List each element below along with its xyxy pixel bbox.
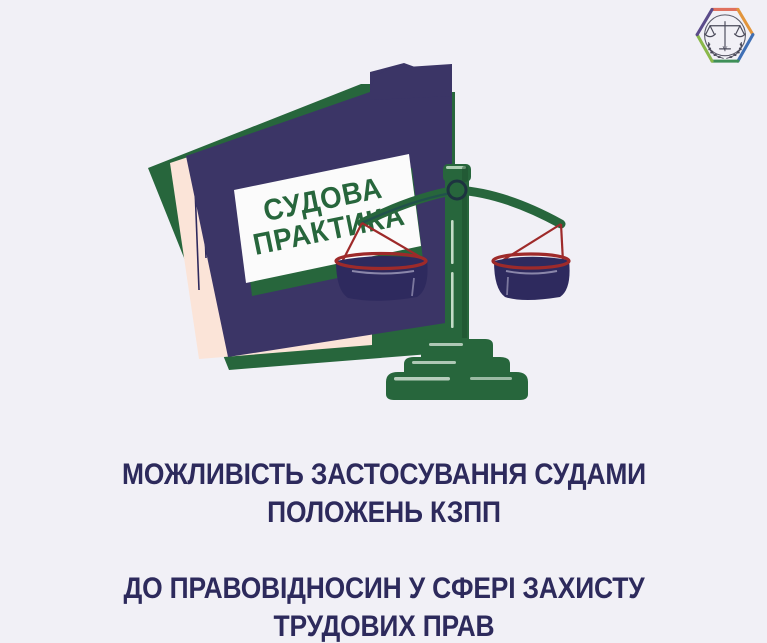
scale-base-highlight-4	[429, 343, 463, 346]
caption-block: МОЖЛИВІСТЬ ЗАСТОСУВАННЯ СУДАМИ ПОЛОЖЕНЬ …	[0, 418, 767, 643]
scale-cap-shadow	[462, 166, 468, 182]
poster-canvas: V	[0, 0, 767, 643]
scale-base-highlight-2	[470, 377, 512, 380]
hero-illustration: СУДОВА ПРАКТИКА	[0, 0, 767, 420]
scale-right-pan	[494, 257, 570, 300]
scale-column-highlight-1	[451, 220, 454, 264]
headline-line-1: МОЖЛИВІСТЬ ЗАСТОСУВАННЯ СУДАМИ ПОЛОЖЕНЬ …	[76, 456, 692, 532]
scale-base-bottom	[386, 372, 528, 400]
scale-pivot	[448, 181, 466, 199]
headline-line-2: ДО ПРАВОВІДНОСИН У СФЕРІ ЗАХИСТУ ТРУДОВИ…	[76, 570, 692, 643]
scale-column-highlight-2	[451, 272, 454, 328]
scale-column-shadow	[462, 186, 467, 338]
page-headline: МОЖЛИВІСТЬ ЗАСТОСУВАННЯ СУДАМИ ПОЛОЖЕНЬ …	[76, 418, 692, 643]
scale-right-pan-edge	[507, 277, 508, 295]
scale-base-middle	[404, 357, 510, 372]
scale-base-highlight-3	[412, 361, 456, 364]
scale-base-highlight-1	[394, 377, 450, 381]
